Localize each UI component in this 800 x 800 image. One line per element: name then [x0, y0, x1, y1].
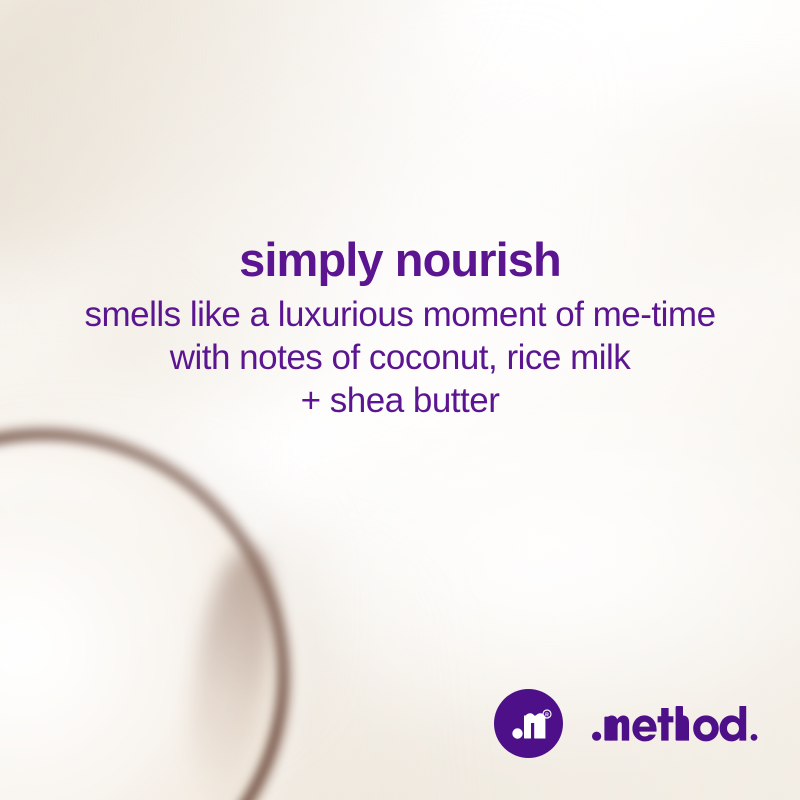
body-copy-line-1: smells like a luxurious moment of me-tim…: [0, 293, 800, 336]
method-wordmark: [591, 698, 761, 750]
wordmark-letter-t: [658, 708, 674, 741]
wordmark-leading-dot: [592, 731, 601, 740]
wordmark-letter-m: [604, 715, 629, 740]
wordmark-letter-e: [632, 715, 656, 741]
headline: simply nourish: [0, 233, 800, 287]
registered-trademark-icon: R: [543, 710, 551, 718]
copy-block: simply nourish smells like a luxurious m…: [0, 233, 800, 422]
wordmark-letter-d: [720, 706, 747, 741]
mark-dot-icon: [512, 728, 522, 738]
wordmark-trailing-dot: [751, 734, 758, 741]
body-copy-line-3: + shea butter: [0, 379, 800, 422]
wordmark-letter-o: [693, 715, 719, 741]
wordmark-letter-h: [676, 706, 689, 741]
advertisement-canvas: simply nourish smells like a luxurious m…: [0, 0, 800, 800]
method-circle-mark-icon: R: [494, 689, 563, 758]
svg-text:R: R: [545, 712, 549, 718]
body-copy-line-2: with notes of coconut, rice milk: [0, 336, 800, 379]
mark-letter-m: [524, 713, 545, 738]
coconut-flesh: [0, 496, 220, 800]
method-logo-lockup: R: [494, 689, 761, 758]
body-copy: smells like a luxurious moment of me-tim…: [0, 293, 800, 422]
